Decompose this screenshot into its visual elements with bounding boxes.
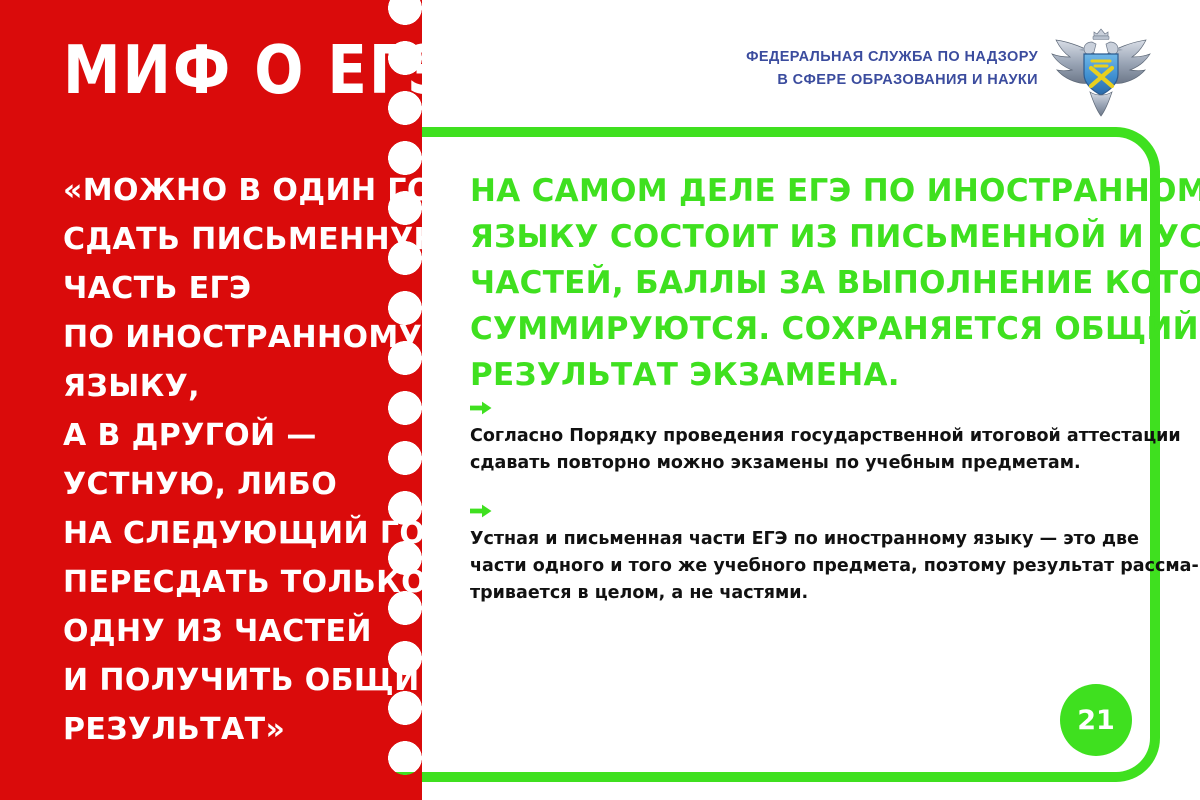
answer-heading-line: СУММИРУЮТСЯ. СОХРАНЯЕТСЯ ОБЩИЙ bbox=[470, 306, 1130, 352]
myth-quote-line: ПО ИНОСТРАННОМУ bbox=[63, 313, 413, 362]
agency-name-line2: В СФЕРЕ ОБРАЗОВАНИЯ И НАУКИ bbox=[718, 69, 1038, 92]
myth-quote-line: И ПОЛУЧИТЬ ОБЩИЙ bbox=[63, 656, 413, 705]
myth-quote-line: РЕЗУЛЬТАТ» bbox=[63, 705, 413, 754]
list-item: Согласно Порядку проведения государствен… bbox=[470, 396, 1135, 477]
list-item-text: Устная и письменная части ЕГЭ по иностра… bbox=[470, 529, 1139, 607]
arrow-right-icon bbox=[470, 397, 492, 411]
myth-quote-line: ОДНУ ИЗ ЧАСТЕЙ bbox=[63, 607, 413, 656]
myth-quote: «МОЖНО В ОДИН ГОД СДАТЬ ПИСЬМЕННУЮ ЧАСТЬ… bbox=[63, 166, 413, 754]
page-title: МИФ О ЕГЭ bbox=[63, 37, 452, 104]
myth-quote-line: ЧАСТЬ ЕГЭ bbox=[63, 264, 413, 313]
answer-heading-line: ЧАСТЕЙ, БАЛЛЫ ЗА ВЫПОЛНЕНИЕ КОТОРЫХ bbox=[470, 260, 1130, 306]
list-item-line: тривается в целом, а не частями. bbox=[470, 580, 1135, 607]
page-number-badge: 21 bbox=[1060, 684, 1132, 756]
myth-quote-line: ЯЗЫКУ, bbox=[63, 362, 413, 411]
myth-quote-line: ПЕРЕСДАТЬ ТОЛЬКО bbox=[63, 558, 413, 607]
list-item-text: Согласно Порядку проведения государствен… bbox=[470, 426, 1181, 477]
answer-heading-line: ЯЗЫКУ СОСТОИТ ИЗ ПИСЬМЕННОЙ И УСТНОЙ bbox=[470, 214, 1130, 260]
list-item-line: Согласно Порядку проведения государствен… bbox=[470, 426, 1181, 446]
answer-heading-line: НА САМОМ ДЕЛЕ ЕГЭ ПО ИНОСТРАННОМУ bbox=[470, 168, 1130, 214]
answer-bullet-list: Согласно Порядку проведения государствен… bbox=[470, 396, 1135, 629]
answer-heading: НА САМОМ ДЕЛЕ ЕГЭ ПО ИНОСТРАННОМУ ЯЗЫКУ … bbox=[470, 168, 1130, 398]
agency-name: ФЕДЕРАЛЬНАЯ СЛУЖБА ПО НАДЗОРУ В СФЕРЕ ОБ… bbox=[718, 46, 1038, 92]
list-item: Устная и письменная части ЕГЭ по иностра… bbox=[470, 499, 1135, 607]
list-item-line: части одного и того же учебного предмета… bbox=[470, 553, 1135, 580]
arrow-right-icon bbox=[470, 500, 492, 514]
agency-name-line1: ФЕДЕРАЛЬНАЯ СЛУЖБА ПО НАДЗОРУ bbox=[718, 46, 1038, 69]
myth-quote-line: НА СЛЕДУЮЩИЙ ГОД bbox=[63, 509, 413, 558]
list-item-line: сдавать повторно можно экзамены по учебн… bbox=[470, 450, 1135, 477]
myth-quote-line: СДАТЬ ПИСЬМЕННУЮ bbox=[63, 215, 413, 264]
double-headed-eagle-emblem-icon bbox=[1046, 26, 1156, 118]
slide-root: МИФ О ЕГЭ «МОЖНО В ОДИН ГОД СДАТЬ ПИСЬМЕ… bbox=[0, 0, 1200, 800]
list-item-line: Устная и письменная части ЕГЭ по иностра… bbox=[470, 529, 1139, 549]
myth-quote-line: А В ДРУГОЙ — bbox=[63, 411, 413, 460]
answer-heading-line: РЕЗУЛЬТАТ ЭКЗАМЕНА. bbox=[470, 352, 1130, 398]
myth-quote-line: УСТНУЮ, ЛИБО bbox=[63, 460, 413, 509]
myth-quote-line: «МОЖНО В ОДИН ГОД bbox=[63, 166, 413, 215]
